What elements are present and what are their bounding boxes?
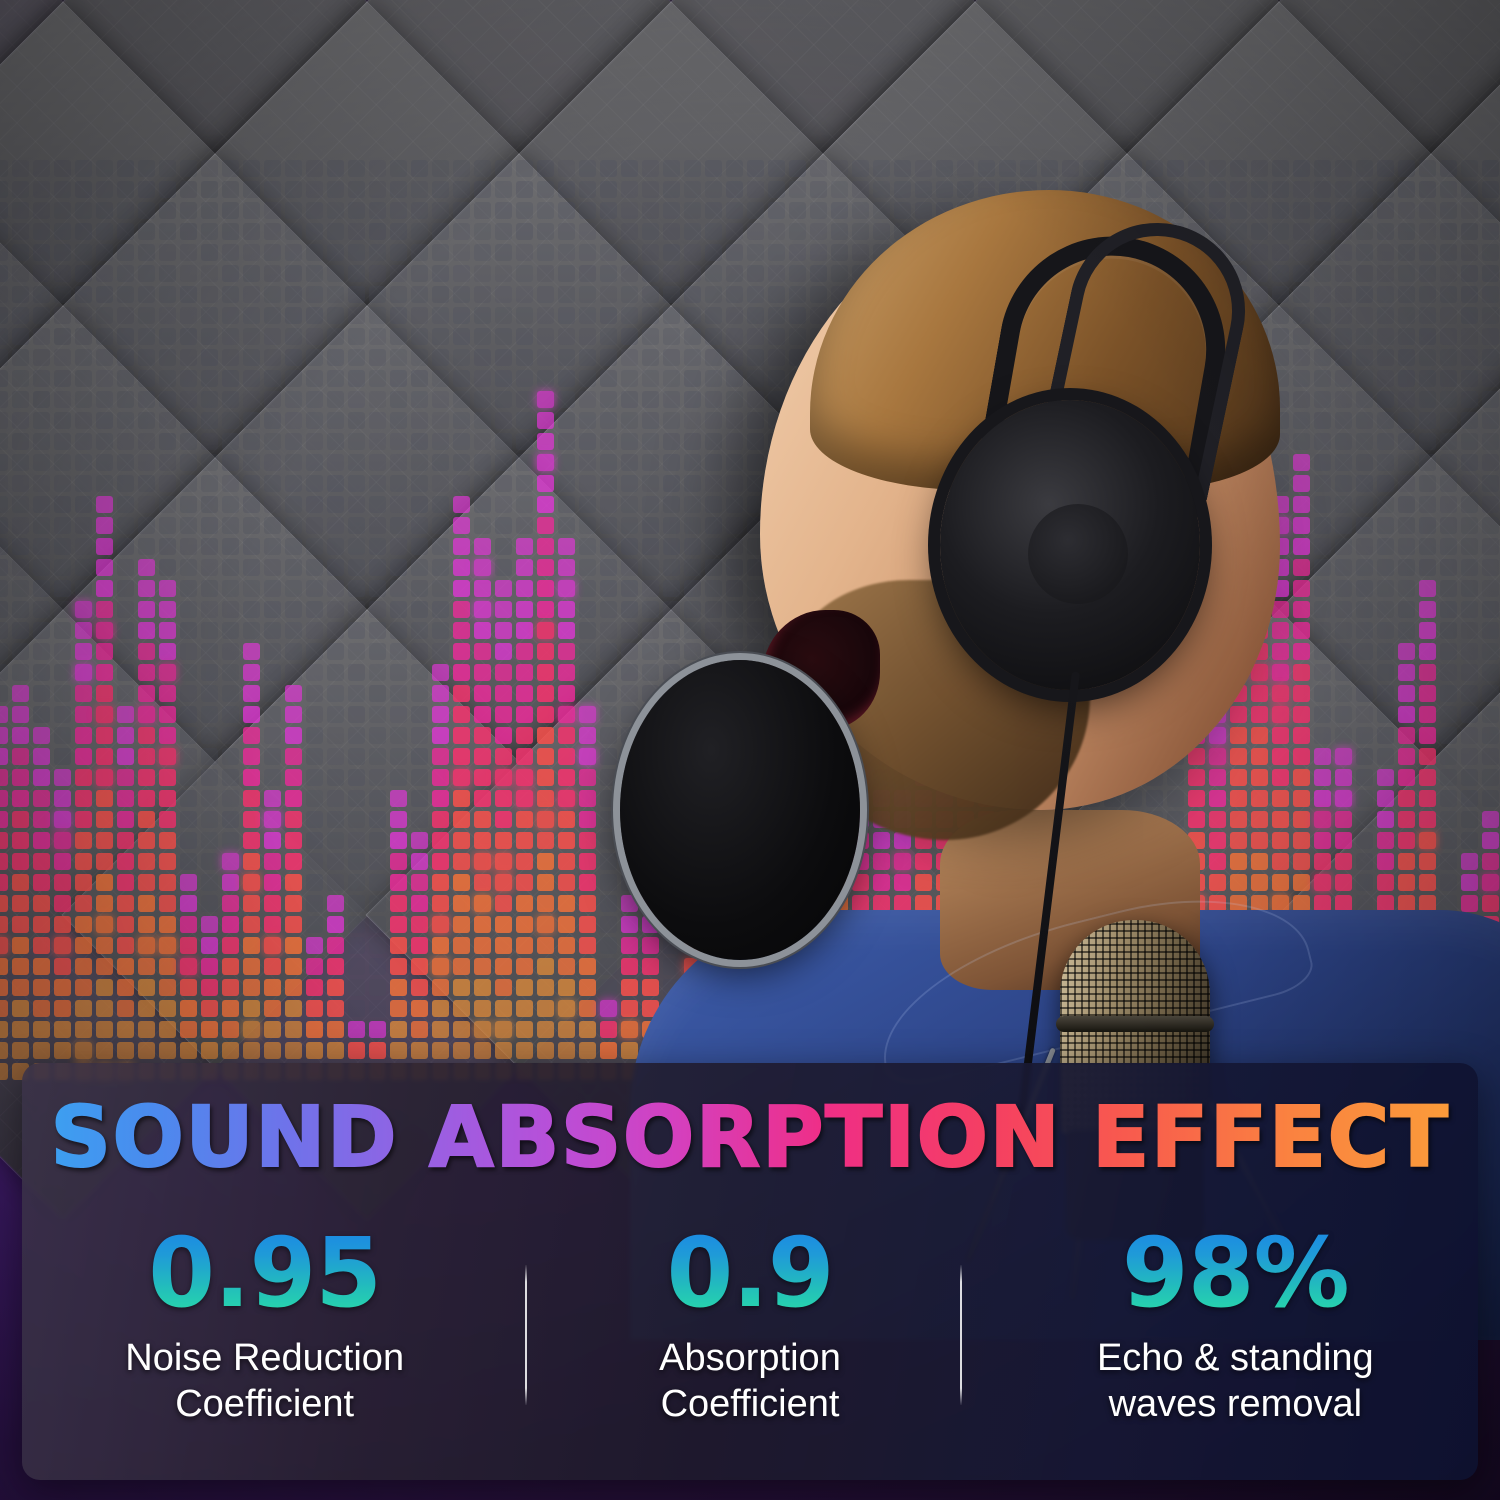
equalizer-cell <box>411 559 428 576</box>
equalizer-cell <box>54 559 71 576</box>
equalizer-cell <box>75 937 92 954</box>
equalizer-cell <box>243 538 260 555</box>
equalizer-cell <box>201 580 218 597</box>
equalizer-cell <box>75 853 92 870</box>
equalizer-cell <box>138 811 155 828</box>
equalizer-cell <box>390 769 407 786</box>
equalizer-cell <box>558 958 575 975</box>
equalizer-cell <box>453 370 470 387</box>
equalizer-cell <box>411 370 428 387</box>
equalizer-cell <box>138 895 155 912</box>
equalizer-cell <box>285 244 302 261</box>
equalizer-cell <box>285 202 302 219</box>
equalizer-cell <box>579 853 596 870</box>
equalizer-cell <box>180 244 197 261</box>
equalizer-cell <box>264 244 281 261</box>
equalizer-cell <box>411 769 428 786</box>
equalizer-cell <box>453 391 470 408</box>
equalizer-cell <box>285 853 302 870</box>
equalizer-cell <box>285 370 302 387</box>
equalizer-cell <box>243 832 260 849</box>
equalizer-cell <box>12 706 29 723</box>
equalizer-cell <box>264 937 281 954</box>
equalizer-cell <box>558 496 575 513</box>
equalizer-cell <box>54 853 71 870</box>
equalizer-cell <box>579 160 596 177</box>
equalizer-cell <box>96 496 113 513</box>
equalizer-cell <box>348 370 365 387</box>
equalizer-cell <box>96 874 113 891</box>
equalizer-cell <box>621 391 638 408</box>
equalizer-cell <box>264 769 281 786</box>
equalizer-cell <box>348 265 365 282</box>
equalizer-cell <box>348 811 365 828</box>
equalizer-cell <box>0 517 8 534</box>
equalizer-cell <box>12 979 29 996</box>
equalizer-cell <box>411 1021 428 1038</box>
equalizer-cell <box>411 433 428 450</box>
equalizer-cell <box>600 412 617 429</box>
equalizer-cell <box>306 622 323 639</box>
equalizer-cell <box>327 412 344 429</box>
equalizer-cell <box>75 811 92 828</box>
equalizer-cell <box>411 286 428 303</box>
equalizer-cell <box>306 580 323 597</box>
equalizer-cell <box>201 643 218 660</box>
equalizer-cell <box>432 265 449 282</box>
equalizer-cell <box>495 622 512 639</box>
equalizer-cell <box>390 937 407 954</box>
equalizer-cell <box>264 370 281 387</box>
equalizer-cell <box>432 958 449 975</box>
equalizer-cell <box>75 979 92 996</box>
equalizer-cell <box>54 643 71 660</box>
equalizer-cell <box>264 349 281 366</box>
equalizer-cell <box>390 391 407 408</box>
equalizer-cell <box>96 1021 113 1038</box>
equalizer-cell <box>369 223 386 240</box>
equalizer-cell <box>264 160 281 177</box>
equalizer-cell <box>0 223 8 240</box>
equalizer-cell <box>537 664 554 681</box>
equalizer-cell <box>411 979 428 996</box>
equalizer-cell <box>369 874 386 891</box>
equalizer-cell <box>264 1000 281 1017</box>
equalizer-cell <box>12 244 29 261</box>
equalizer-cell <box>306 286 323 303</box>
equalizer-cell <box>369 664 386 681</box>
equalizer-cell <box>159 1042 176 1059</box>
equalizer-cell <box>558 622 575 639</box>
equalizer-cell <box>348 160 365 177</box>
equalizer-cell <box>348 1000 365 1017</box>
equalizer-cell <box>264 412 281 429</box>
equalizer-cell <box>390 265 407 282</box>
equalizer-cell <box>96 559 113 576</box>
equalizer-cell <box>537 958 554 975</box>
equalizer-cell <box>516 223 533 240</box>
equalizer-cell <box>369 454 386 471</box>
equalizer-cell <box>369 370 386 387</box>
equalizer-cell <box>222 265 239 282</box>
equalizer-cell <box>243 1042 260 1059</box>
equalizer-cell <box>369 727 386 744</box>
equalizer-cell <box>369 643 386 660</box>
equalizer-cell <box>75 559 92 576</box>
equalizer-cell <box>96 937 113 954</box>
equalizer-cell <box>243 454 260 471</box>
equalizer-cell <box>201 748 218 765</box>
equalizer-cell <box>579 433 596 450</box>
equalizer-cell <box>432 790 449 807</box>
equalizer-cell <box>33 643 50 660</box>
equalizer-cell <box>516 979 533 996</box>
equalizer-cell <box>348 832 365 849</box>
equalizer-cell <box>180 286 197 303</box>
equalizer-cell <box>243 307 260 324</box>
equalizer-cell <box>33 916 50 933</box>
equalizer-cell <box>474 1000 491 1017</box>
equalizer-cell <box>411 517 428 534</box>
equalizer-cell <box>390 160 407 177</box>
equalizer-cell <box>0 811 8 828</box>
equalizer-cell <box>0 685 8 702</box>
equalizer-cell <box>201 790 218 807</box>
equalizer-cell <box>474 979 491 996</box>
equalizer-cell <box>159 538 176 555</box>
equalizer-cell <box>390 706 407 723</box>
equalizer-cell <box>453 412 470 429</box>
equalizer-cell <box>201 958 218 975</box>
equalizer-cell <box>96 853 113 870</box>
equalizer-cell <box>75 538 92 555</box>
equalizer-cell <box>222 727 239 744</box>
equalizer-cell <box>222 496 239 513</box>
equalizer-cell <box>411 643 428 660</box>
equalizer-cell <box>12 790 29 807</box>
equalizer-cell <box>621 601 638 618</box>
equalizer-cell <box>453 307 470 324</box>
equalizer-cell <box>201 727 218 744</box>
equalizer-cell <box>96 601 113 618</box>
equalizer-cell <box>0 853 8 870</box>
equalizer-cell <box>0 832 8 849</box>
equalizer-cell <box>495 202 512 219</box>
equalizer-cell <box>453 853 470 870</box>
equalizer-cell <box>33 475 50 492</box>
equalizer-cell <box>348 601 365 618</box>
equalizer-cell <box>138 916 155 933</box>
equalizer-cell <box>453 664 470 681</box>
equalizer-cell <box>159 580 176 597</box>
equalizer-cell <box>12 769 29 786</box>
equalizer-cell <box>348 1021 365 1038</box>
equalizer-cell <box>180 685 197 702</box>
equalizer-cell <box>117 517 134 534</box>
equalizer-cell <box>54 937 71 954</box>
equalizer-cell <box>264 622 281 639</box>
equalizer-cell <box>495 559 512 576</box>
equalizer-cell <box>579 748 596 765</box>
equalizer-cell <box>243 223 260 240</box>
equalizer-cell <box>495 391 512 408</box>
equalizer-cell <box>516 811 533 828</box>
equalizer-cell <box>558 202 575 219</box>
equalizer-cell <box>621 685 638 702</box>
equalizer-cell <box>180 559 197 576</box>
equalizer-cell <box>600 328 617 345</box>
equalizer-cell <box>180 874 197 891</box>
equalizer-cell <box>96 769 113 786</box>
equalizer-cell <box>33 202 50 219</box>
equalizer-cell <box>390 1021 407 1038</box>
equalizer-cell <box>537 811 554 828</box>
equalizer-cell <box>264 391 281 408</box>
equalizer-cell <box>600 370 617 387</box>
equalizer-cell <box>222 307 239 324</box>
equalizer-cell <box>600 832 617 849</box>
equalizer-cell <box>411 1042 428 1059</box>
equalizer-cell <box>96 895 113 912</box>
equalizer-cell <box>537 244 554 261</box>
equalizer-cell <box>159 937 176 954</box>
equalizer-cell <box>0 244 8 261</box>
equalizer-cell <box>474 685 491 702</box>
equalizer-cell <box>33 811 50 828</box>
equalizer-cell <box>327 979 344 996</box>
equalizer-cell <box>432 538 449 555</box>
equalizer-cell <box>264 1042 281 1059</box>
equalizer-cell <box>453 874 470 891</box>
equalizer-cell <box>201 538 218 555</box>
equalizer-cell <box>474 412 491 429</box>
equalizer-cell <box>33 412 50 429</box>
equalizer-cell <box>621 307 638 324</box>
equalizer-cell <box>495 223 512 240</box>
equalizer-cell <box>369 769 386 786</box>
equalizer-cell <box>558 265 575 282</box>
equalizer-cell <box>495 265 512 282</box>
equalizer-cell <box>222 454 239 471</box>
equalizer-cell <box>411 706 428 723</box>
equalizer-cell <box>579 454 596 471</box>
equalizer-cell <box>285 286 302 303</box>
equalizer-cell <box>327 643 344 660</box>
equalizer-cell <box>600 160 617 177</box>
equalizer-cell <box>180 328 197 345</box>
equalizer-cell <box>96 265 113 282</box>
equalizer-cell <box>264 748 281 765</box>
equalizer-cell <box>306 769 323 786</box>
equalizer-cell <box>327 475 344 492</box>
equalizer-cell <box>474 916 491 933</box>
equalizer-cell <box>159 265 176 282</box>
equalizer-cell <box>516 1021 533 1038</box>
equalizer-cell <box>327 517 344 534</box>
equalizer-cell <box>306 328 323 345</box>
equalizer-cell <box>0 496 8 513</box>
equalizer-cell <box>558 769 575 786</box>
equalizer-cell <box>474 811 491 828</box>
equalizer-cell <box>516 307 533 324</box>
equalizer-cell <box>579 559 596 576</box>
equalizer-cell <box>558 811 575 828</box>
equalizer-cell <box>327 181 344 198</box>
equalizer-cell <box>285 160 302 177</box>
equalizer-cell <box>390 790 407 807</box>
equalizer-cell <box>264 580 281 597</box>
equalizer-cell <box>222 601 239 618</box>
equalizer-cell <box>600 307 617 324</box>
equalizer-cell <box>222 748 239 765</box>
equalizer-cell <box>33 328 50 345</box>
equalizer-cell <box>201 874 218 891</box>
equalizer-cell <box>75 181 92 198</box>
equalizer-cell <box>285 958 302 975</box>
equalizer-cell <box>306 181 323 198</box>
equalizer-cell <box>558 601 575 618</box>
equalizer-cell <box>537 1021 554 1038</box>
equalizer-cell <box>558 412 575 429</box>
equalizer-cell <box>306 937 323 954</box>
equalizer-cell <box>12 937 29 954</box>
equalizer-cell <box>432 748 449 765</box>
equalizer-cell <box>369 265 386 282</box>
equalizer-cell <box>369 412 386 429</box>
equalizer-cell <box>516 895 533 912</box>
equalizer-cell <box>222 769 239 786</box>
equalizer-cell <box>138 1021 155 1038</box>
equalizer-cell <box>516 874 533 891</box>
equalizer-cell <box>558 475 575 492</box>
equalizer-cell <box>474 727 491 744</box>
equalizer-cell <box>474 790 491 807</box>
equalizer-cell <box>474 454 491 471</box>
equalizer-cell <box>306 349 323 366</box>
equalizer-cell <box>495 853 512 870</box>
equalizer-cell <box>537 895 554 912</box>
equalizer-cell <box>180 454 197 471</box>
equalizer-cell <box>159 559 176 576</box>
equalizer-cell <box>579 1000 596 1017</box>
equalizer-cell <box>453 328 470 345</box>
equalizer-cell <box>348 748 365 765</box>
equalizer-cell <box>432 643 449 660</box>
equalizer-cell <box>390 517 407 534</box>
equalizer-cell <box>453 265 470 282</box>
equalizer-cell <box>516 412 533 429</box>
equalizer-cell <box>600 559 617 576</box>
equalizer-cell <box>285 706 302 723</box>
equalizer-cell <box>579 391 596 408</box>
stat-label: Echo & standing waves removal <box>993 1335 1478 1428</box>
stat-label-line2: Coefficient <box>507 1381 992 1427</box>
equalizer-cell <box>12 580 29 597</box>
equalizer-cell <box>348 412 365 429</box>
equalizer-cell <box>264 475 281 492</box>
equalizer-cell <box>369 475 386 492</box>
equalizer-cell <box>579 979 596 996</box>
equalizer-cell <box>537 454 554 471</box>
equalizer-cell <box>180 979 197 996</box>
equalizer-cell <box>600 937 617 954</box>
equalizer-cell <box>453 559 470 576</box>
equalizer-cell <box>516 265 533 282</box>
equalizer-cell <box>369 1000 386 1017</box>
equalizer-cell <box>243 601 260 618</box>
equalizer-cell <box>180 958 197 975</box>
equalizer-cell <box>117 1000 134 1017</box>
microphone-ring <box>1056 1016 1214 1032</box>
equalizer-cell <box>579 181 596 198</box>
equalizer-cell <box>12 496 29 513</box>
equalizer-cell <box>222 874 239 891</box>
equalizer-cell <box>222 937 239 954</box>
equalizer-cell <box>243 202 260 219</box>
equalizer-cell <box>600 853 617 870</box>
equalizer-cell <box>264 601 281 618</box>
equalizer-cell <box>180 1042 197 1059</box>
equalizer-cell <box>537 286 554 303</box>
equalizer-cell <box>54 706 71 723</box>
stat-label: Absorption Coefficient <box>507 1335 992 1428</box>
equalizer-cell <box>411 160 428 177</box>
equalizer-cell <box>306 307 323 324</box>
equalizer-cell <box>411 181 428 198</box>
equalizer-cell <box>369 580 386 597</box>
equalizer-cell <box>201 370 218 387</box>
equalizer-cell <box>348 286 365 303</box>
stat-label: Noise Reduction Coefficient <box>22 1335 507 1428</box>
equalizer-cell <box>75 580 92 597</box>
equalizer-cell <box>348 706 365 723</box>
equalizer-cell <box>411 475 428 492</box>
equalizer-cell <box>33 979 50 996</box>
equalizer-cell <box>411 958 428 975</box>
equalizer-cell <box>537 559 554 576</box>
equalizer-cell <box>516 937 533 954</box>
equalizer-cell <box>474 496 491 513</box>
equalizer-cell <box>0 895 8 912</box>
equalizer-cell <box>411 244 428 261</box>
equalizer-cell <box>390 664 407 681</box>
equalizer-cell <box>0 370 8 387</box>
equalizer-cell <box>117 244 134 261</box>
equalizer-cell <box>453 1021 470 1038</box>
equalizer-cell <box>180 160 197 177</box>
equalizer-cell <box>117 475 134 492</box>
equalizer-cell <box>537 853 554 870</box>
equalizer-cell <box>54 580 71 597</box>
equalizer-cell <box>96 643 113 660</box>
equalizer-cell <box>474 643 491 660</box>
equalizer-cell <box>117 223 134 240</box>
equalizer-cell <box>621 1021 638 1038</box>
equalizer-cell <box>558 160 575 177</box>
equalizer-cell <box>495 181 512 198</box>
equalizer-cell <box>12 601 29 618</box>
equalizer-cell <box>96 958 113 975</box>
equalizer-cell <box>558 664 575 681</box>
equalizer-cell <box>201 685 218 702</box>
equalizer-cell <box>516 475 533 492</box>
equalizer-cell <box>117 307 134 324</box>
equalizer-cell <box>495 685 512 702</box>
equalizer-cell <box>348 433 365 450</box>
equalizer-cell <box>537 1000 554 1017</box>
equalizer-cell <box>117 1042 134 1059</box>
equalizer-cell <box>390 412 407 429</box>
